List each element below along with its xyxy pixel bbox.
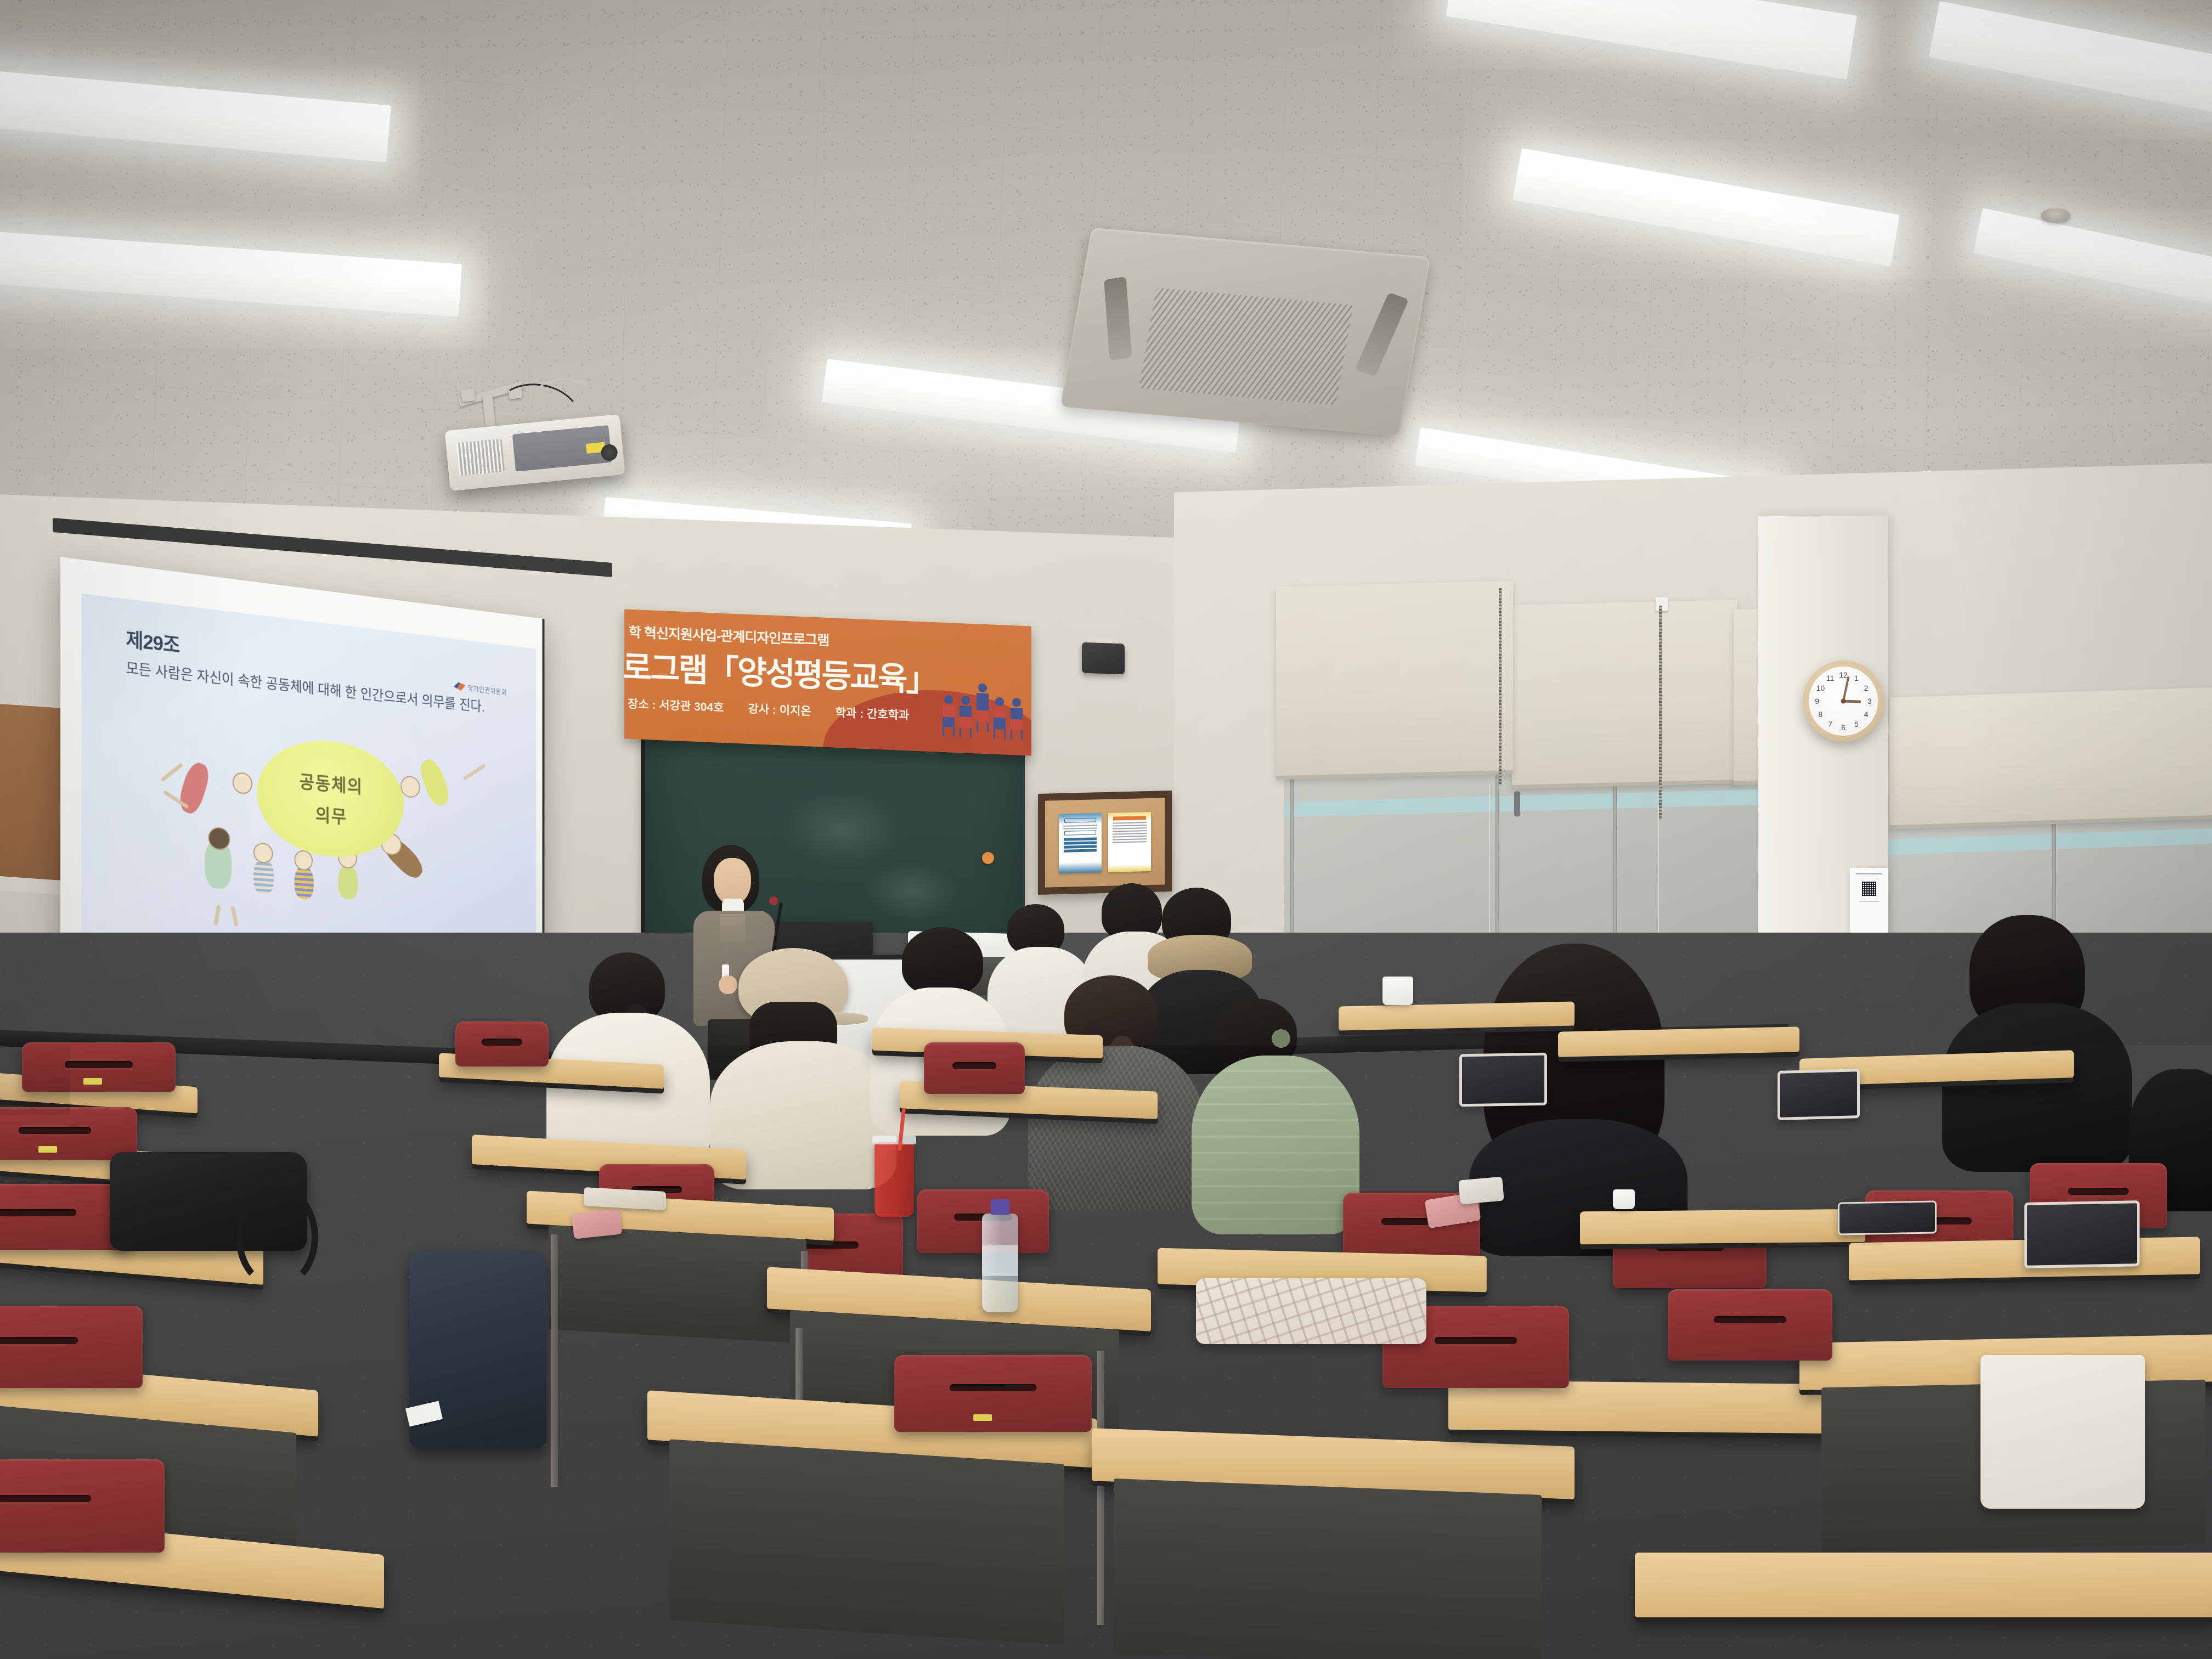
slide-kid-yellowstripe: [295, 866, 314, 900]
smartphone-case-right[interactable]: [1458, 1177, 1504, 1205]
white-mug-2: [1613, 1189, 1635, 1209]
clock-numeral-9: 9: [1815, 697, 1819, 706]
black-tote-strap: [236, 1185, 318, 1289]
ceiling-ac-unit: [1060, 228, 1430, 436]
roller-blind-3[interactable]: [1276, 581, 1513, 780]
banner-department: 학과 : 간호학과: [836, 704, 910, 724]
banner-figure-group: [943, 682, 1023, 740]
student-body: [1192, 1056, 1359, 1234]
tablet-device-2[interactable]: [1778, 1069, 1860, 1120]
classroom-photo: 제29조 모든 사람은 자신이 속한 공동체에 대해 한 인간으로서 의무를 진…: [0, 0, 2212, 1659]
microphone-head-icon: [769, 896, 778, 905]
glass-door-handle[interactable]: [1514, 791, 1520, 816]
slide-kid-arm-yellow: [463, 764, 486, 781]
student-body: [1942, 1003, 2132, 1172]
banner-title: 로그램「양성평등교육」: [624, 641, 937, 701]
slide-logo-text: 국가인권위원회: [468, 682, 507, 696]
qr-code-icon: [1861, 881, 1877, 896]
event-banner: 학 혁신지원사업-관계디자인프로그램 로그램「양성평등교육」 장소 : 서강관 …: [624, 609, 1031, 755]
banner-location: 장소 : 서강관 304호: [628, 695, 724, 715]
slide-illustration: 공동체의 의무: [155, 719, 490, 946]
chair-behind-cap[interactable]: [924, 1042, 1025, 1094]
wall-qr-notice: [1850, 868, 1888, 933]
clock-numeral-5: 5: [1854, 720, 1859, 729]
banner-figure-3: [977, 683, 989, 732]
slide-kid-head-stripe: [253, 843, 273, 864]
chair-fg-left-5[interactable]: [0, 1459, 165, 1553]
clock-numeral-7: 7: [1828, 720, 1832, 729]
bulletin-board-frame: [1038, 791, 1172, 895]
chair-fg-center-1[interactable]: [894, 1355, 1092, 1432]
chalk-smudge-2: [865, 859, 958, 923]
water-bottle: [982, 1214, 1018, 1312]
banner-figure-1: [943, 695, 955, 737]
chair-fg-left-1[interactable]: [22, 1042, 176, 1092]
clock-numeral-3: 3: [1867, 697, 1872, 706]
slide-kid-stripe: [253, 859, 274, 895]
desk-fg-center-2-modesty: [1114, 1479, 1542, 1659]
white-mug: [1383, 977, 1413, 1005]
clock-numeral-4: 4: [1864, 710, 1869, 719]
desk-fg-bottom-right: [1635, 1553, 2212, 1618]
projector-vent: [456, 439, 505, 476]
desk-fg-center-1-modesty: [669, 1439, 1064, 1645]
chair-fg-right-2[interactable]: [1668, 1289, 1832, 1361]
smoke-detector-icon: [2041, 208, 2070, 223]
glass-frosted-band: [1284, 789, 1767, 817]
smartphone[interactable]: [572, 1209, 622, 1239]
bulletin-cork: [1045, 798, 1165, 887]
presenter-coat-lapel: [720, 914, 745, 948]
qr-notice-header-line: [1856, 873, 1882, 874]
clock-numeral-1: 1: [1854, 674, 1859, 682]
student-hair: [902, 927, 983, 995]
chair-fg-left-2[interactable]: [0, 1107, 137, 1160]
clock-numeral-8: 8: [1819, 710, 1823, 719]
clock-numeral-12: 12: [1839, 670, 1848, 679]
student-right-black-padded-jacket: [1948, 915, 2134, 1167]
qr-notice-caption-line: [1859, 901, 1879, 902]
blind-chain[interactable]: [1659, 606, 1662, 820]
slide-kid-head-yellow-top: [400, 775, 420, 798]
slide-kid-red: [176, 759, 212, 817]
slide-sun-text-1: 공동체의: [300, 767, 363, 798]
clock-hour-hand: [1843, 700, 1861, 703]
projector-lens-icon: [601, 443, 619, 461]
bulletin-poster-blue: [1059, 813, 1102, 873]
banner-figure-2: [960, 696, 972, 738]
ac-vane-left: [1104, 276, 1132, 360]
banner-meta-row: 장소 : 서강관 304호 강사 : 이지온 학과 : 간호학과: [628, 695, 909, 724]
white-tote-bag: [1980, 1355, 2145, 1509]
iced-drink-cup: [874, 1142, 914, 1217]
slide-sun-text-2: 의무: [315, 800, 347, 828]
student-body: [1028, 1046, 1203, 1210]
wall-clock: 12 1 2 3 4 5 6 7 8 9 10 11: [1803, 661, 1884, 742]
roller-blind-4[interactable]: [1889, 687, 2212, 830]
clock-numeral-6: 6: [1841, 723, 1846, 732]
student-cream-fleece-ponytail: [549, 952, 713, 1166]
chair-fg-left-4[interactable]: [0, 1306, 143, 1388]
clock-numeral-2: 2: [1864, 684, 1869, 692]
student-hair-tie: [1272, 1029, 1290, 1048]
slide-kid-leg-green-1: [213, 905, 221, 926]
slide-kid-head-red: [233, 772, 252, 795]
slide-kid-leg-green-2: [230, 906, 238, 927]
board-magnet-icon: [982, 852, 994, 864]
student-sage-green-puffer: [1192, 998, 1362, 1234]
slide-kid-yellow-top: [416, 756, 453, 808]
cup-lid: [872, 1136, 916, 1144]
banner-figure-4: [994, 697, 1006, 740]
banner-figure-5: [1011, 698, 1023, 740]
bottle-label: [982, 1245, 1018, 1276]
black-bag-right: [1854, 1222, 1964, 1266]
blind-cord-2[interactable]: [1489, 785, 1490, 949]
chalk-smudge-1: [782, 788, 902, 870]
clock-face: 12 1 2 3 4 5 6 7 8 9 10 11: [1809, 667, 1878, 736]
clock-numeral-10: 10: [1816, 684, 1825, 692]
clock-numeral-11: 11: [1826, 674, 1835, 682]
tablet-device-1[interactable]: [1459, 1053, 1547, 1107]
bottle-cap: [991, 1199, 1009, 1215]
slide-kid-lime: [338, 865, 358, 900]
ac-grille: [1139, 288, 1353, 405]
bulletin-poster-yellow: [1108, 812, 1151, 872]
desk-leg-1: [551, 1234, 558, 1487]
desk-mid-right: [1339, 1001, 1575, 1031]
blind-chain-2[interactable]: [1499, 588, 1502, 786]
clock-minute-hand: [1842, 676, 1849, 702]
roller-blind-1[interactable]: [1512, 600, 1737, 789]
chair-back-left-1[interactable]: [455, 1022, 549, 1066]
slide-kid-head-yellowstripe: [295, 850, 313, 871]
banner-lecturer: 강사 : 이지온: [748, 700, 811, 719]
desk-right-front-2: [1580, 1209, 1865, 1246]
slide-kid-arm-red: [161, 763, 183, 782]
blind-clip-icon: [1656, 597, 1668, 611]
desk-back-right: [1558, 1026, 1799, 1058]
slide-title: 제29조: [126, 623, 179, 658]
clock-center-pin: [1841, 699, 1846, 704]
folded-plaid-scarf: [1196, 1278, 1426, 1344]
ac-vane-right: [1355, 292, 1408, 376]
wall-speaker-icon: [1082, 642, 1125, 675]
slide-sun-circle: 공동체의 의무: [257, 733, 404, 862]
glass-frosted-band-2: [1887, 828, 2212, 855]
human-rights-commission-logo-icon: [454, 682, 465, 691]
slide-surface: 제29조 모든 사람은 자신이 속한 공동체에 대해 한 인간으로서 의무를 진…: [81, 594, 536, 968]
tablet-device-3[interactable]: [2024, 1200, 2140, 1268]
slide-logo: 국가인권위원회: [454, 681, 507, 696]
desk-leg-4: [1097, 1351, 1104, 1625]
